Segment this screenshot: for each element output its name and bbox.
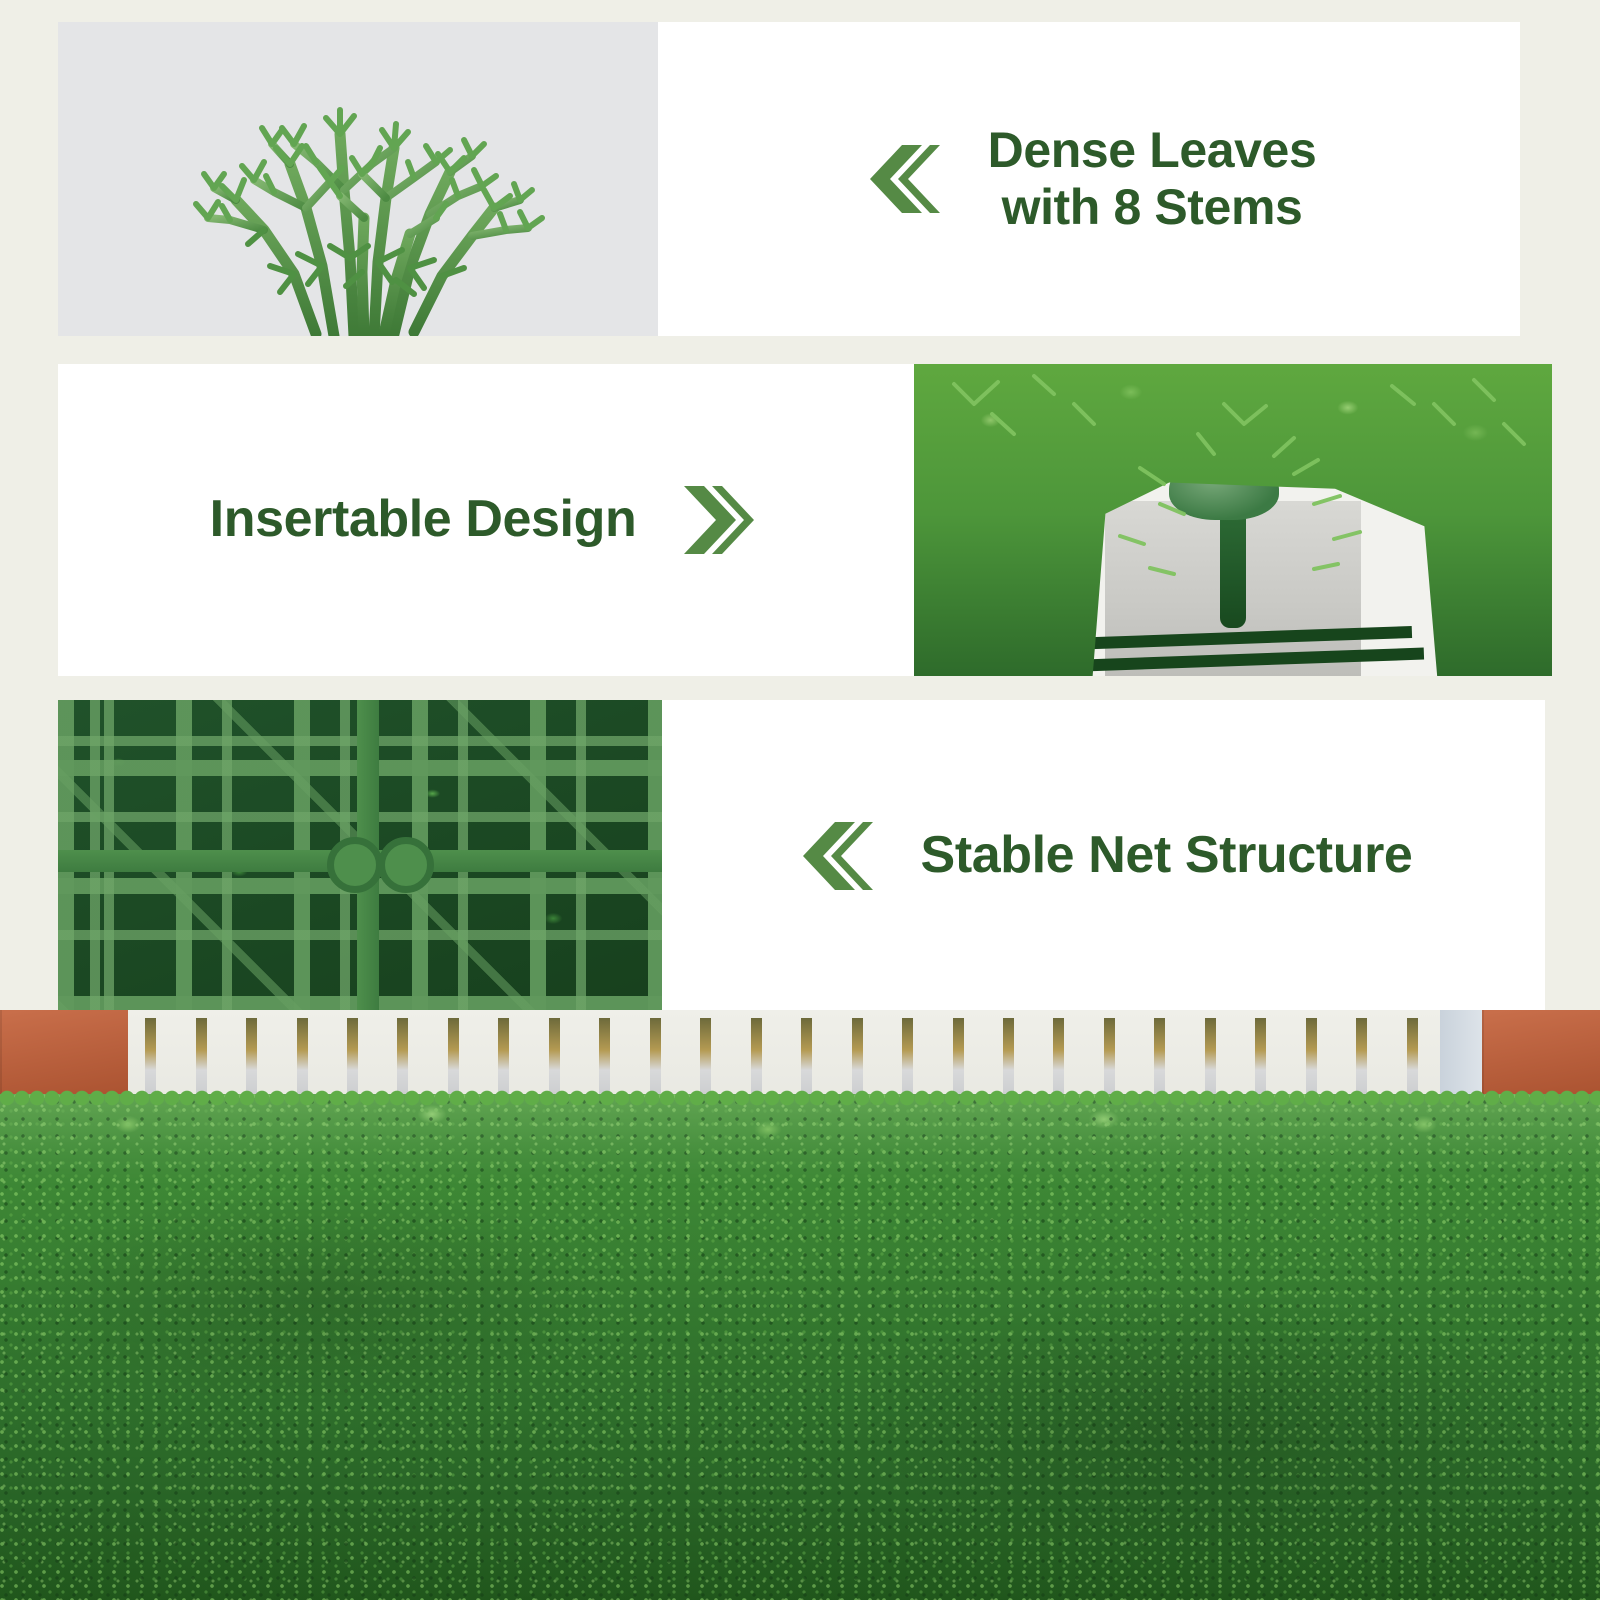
net-grid-backing-photo bbox=[58, 700, 662, 1012]
net-scene bbox=[58, 700, 662, 1012]
feature-text-stable-net-structure: Stable Net Structure bbox=[662, 700, 1545, 1012]
plant-sprig-illustration bbox=[58, 22, 658, 336]
feature-row-stable-net-structure: Stable Net Structure bbox=[58, 700, 1545, 1012]
feature-title: Dense Leaves with 8 Stems bbox=[988, 122, 1317, 236]
feature-row-dense-leaves: Dense Leaves with 8 Stems bbox=[58, 22, 1520, 336]
feature-title: Insertable Design bbox=[210, 490, 637, 549]
infographic-page: Dense Leaves with 8 Stems Insertable Des… bbox=[0, 0, 1600, 1600]
artificial-plant-sprig-photo bbox=[58, 22, 658, 336]
interlock-clip bbox=[327, 837, 383, 893]
feature-title: Stable Net Structure bbox=[921, 826, 1413, 885]
hedge-top-edge bbox=[0, 1087, 1600, 1109]
chevron-double-right-icon bbox=[682, 482, 762, 558]
hedge-shading bbox=[0, 1094, 1600, 1600]
closeup-scene bbox=[914, 364, 1552, 676]
chevron-double-left-icon bbox=[795, 818, 875, 894]
leaf-sprays bbox=[914, 364, 1552, 676]
feature-text-insertable-design: Insertable Design bbox=[58, 364, 914, 676]
feature-row-insertable-design: Insertable Design bbox=[58, 364, 1552, 676]
hedge-fence-scene-photo bbox=[0, 1010, 1600, 1600]
boxwood-hedge-panels bbox=[0, 1094, 1600, 1600]
chevron-double-left-icon bbox=[862, 141, 942, 217]
insertable-stem-closeup-photo bbox=[914, 364, 1552, 676]
interlock-clip bbox=[378, 837, 434, 893]
feature-text-dense-leaves: Dense Leaves with 8 Stems bbox=[658, 22, 1520, 336]
